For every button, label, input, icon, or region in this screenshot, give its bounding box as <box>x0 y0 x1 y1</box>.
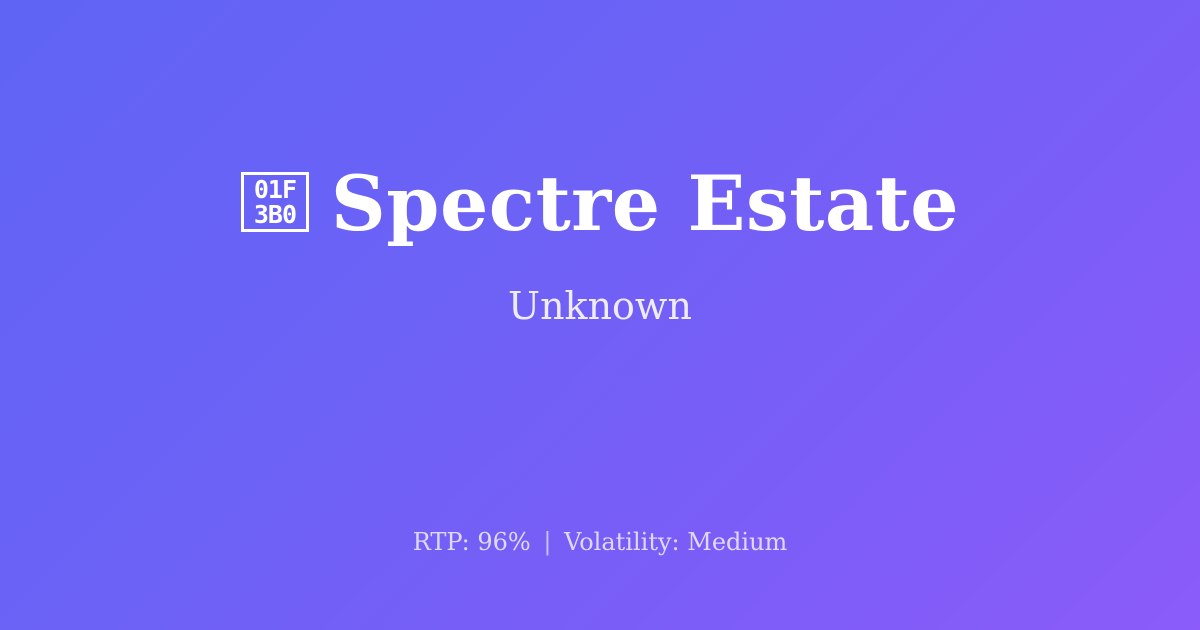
volatility-value: Medium <box>687 528 787 556</box>
meta-info-line: RTP: 96% | Volatility: Medium <box>0 528 1200 557</box>
og-card: 01F 3B0 Spectre Estate Unknown RTP: 96% … <box>0 0 1200 630</box>
page-subtitle: Unknown <box>508 286 692 328</box>
tofu-codepoint-top: 01F <box>254 177 296 202</box>
rtp-label: RTP: <box>413 528 470 556</box>
title-row: 01F 3B0 Spectre Estate <box>241 164 959 244</box>
slot-machine-emoji-tofu-icon: 01F 3B0 <box>241 172 309 232</box>
meta-separator: | <box>538 528 556 556</box>
volatility-label: Volatility: <box>564 528 680 556</box>
tofu-codepoint-bottom: 3B0 <box>254 202 296 227</box>
hero-block: 01F 3B0 Spectre Estate Unknown <box>0 0 1200 492</box>
page-title: Spectre Estate <box>331 164 959 244</box>
rtp-value: 96% <box>477 528 530 556</box>
